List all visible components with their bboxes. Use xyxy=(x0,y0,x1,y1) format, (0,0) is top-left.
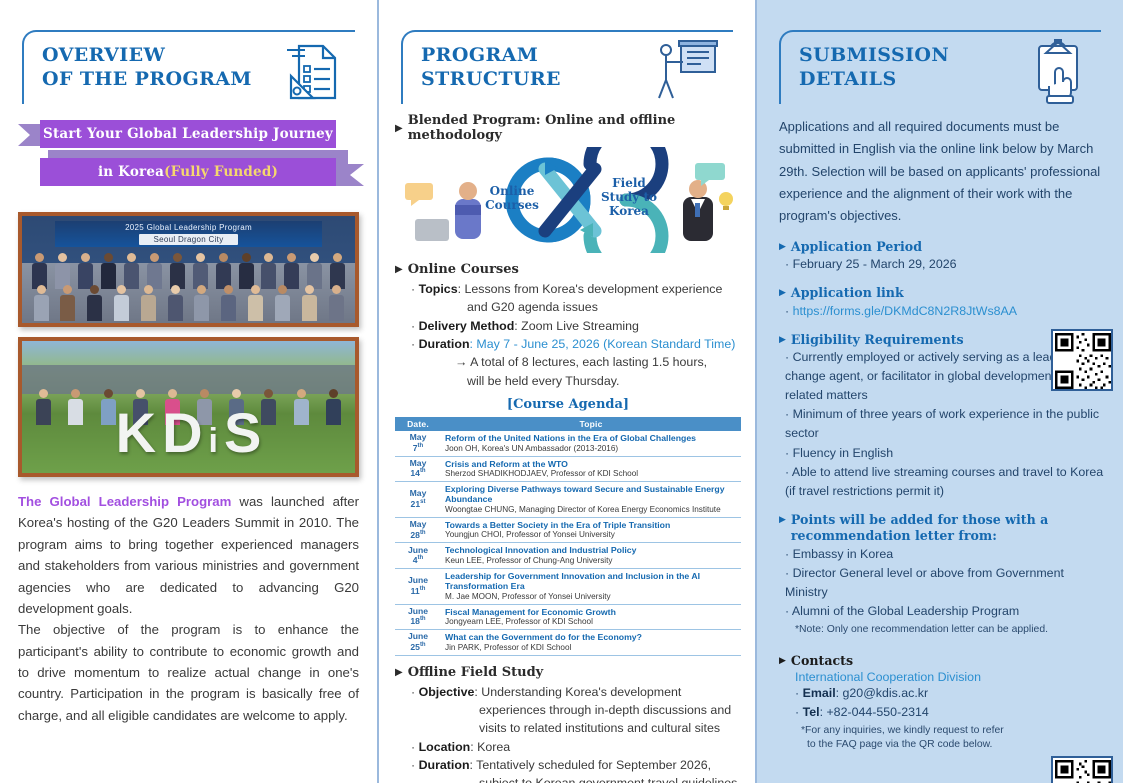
recommendation-item: · Director General level or above from G… xyxy=(785,564,1107,602)
triangle-bullet-icon: ▶ xyxy=(779,515,786,527)
triangle-bullet-icon: ▶ xyxy=(395,264,403,275)
cell-date: June25th xyxy=(395,630,441,655)
group-photo-indoor: 2025 Global Leadership Program Seoul Dra… xyxy=(18,212,359,327)
cell-topic: Leadership for Government Innovation and… xyxy=(441,568,741,604)
offline-duration-line: · Duration: Tentatively scheduled for Se… xyxy=(411,756,741,783)
column-header-topic: Topic xyxy=(441,417,741,431)
contacts-note-2: to the FAQ page via the QR code below. xyxy=(807,738,1107,752)
hand-clipboard-icon xyxy=(1029,36,1087,111)
contact-email-line[interactable]: · Email: g20@kdis.ac.kr xyxy=(795,684,1107,703)
location-label: Location xyxy=(419,740,471,754)
duration-note-2: will be held every Thursday. xyxy=(467,372,741,390)
duration-label: Duration xyxy=(419,337,470,351)
objective-line: · Objective: Understanding Korea's devel… xyxy=(411,683,741,738)
cell-topic: Exploring Diverse Pathways toward Secure… xyxy=(441,482,741,518)
recommendation-item: · Alumni of the Global Leadership Progra… xyxy=(785,602,1107,621)
program-structure-header: PROGRAM STRUCTURE xyxy=(379,0,755,104)
triangle-bullet-icon: ▶ xyxy=(779,656,786,668)
contacts-heading: ▶ Contacts xyxy=(779,653,1107,669)
topic-speaker: Sherzod SHADIKHODJAEV, Professor of KDI … xyxy=(445,469,737,479)
tel-label: Tel xyxy=(803,705,820,719)
column-submission-details: SUBMISSION DETAILS Applications and all … xyxy=(757,0,1123,783)
objective-value-3: visits to related institutions and cultu… xyxy=(479,719,741,737)
course-agenda-title: [Course Agenda] xyxy=(395,397,741,412)
offline-field-study-heading: ▶ Offline Field Study xyxy=(395,665,741,680)
application-link-row[interactable]: · https://forms.gle/DKMdC8N2R8JtWs8AA xyxy=(785,302,1107,321)
topic-title: Technological Innovation and Industrial … xyxy=(445,545,737,555)
online-topics-value: : Lessons from Korea's development exper… xyxy=(458,282,723,296)
topic-speaker: Woongtae CHUNG, Managing Director of Kor… xyxy=(445,505,737,515)
application-link-heading: ▶ Application link xyxy=(779,285,1107,301)
cell-date: June18th xyxy=(395,604,441,629)
duration-line: · Duration: May 7 - June 25, 2026 (Korea… xyxy=(411,335,741,390)
topic-title: Exploring Diverse Pathways toward Secure… xyxy=(445,484,737,505)
table-header-row: Date. Topic xyxy=(395,417,741,431)
delivery-method-line: · Delivery Method: Zoom Live Streaming xyxy=(411,317,741,335)
triangle-bullet-icon: ▶ xyxy=(779,288,786,300)
topic-speaker: Keun LEE, Professor of Chung-Ang Univers… xyxy=(445,556,737,566)
objective-label: Objective xyxy=(419,685,475,699)
cell-date: May14th xyxy=(395,456,441,481)
qr-code-image xyxy=(1055,760,1111,783)
delivery-method-value: : Zoom Live Streaming xyxy=(514,319,639,333)
brochure-page: OVERVIEW OF THE PROGRAM xyxy=(0,0,1125,783)
diagram-label-field-study: Field Study to Korea xyxy=(591,177,667,218)
blended-program-heading: ▶ Blended Program: Online and offline me… xyxy=(395,113,741,143)
table-row: May14thCrisis and Reform at the WTOSherz… xyxy=(395,456,741,481)
table-row: June4thTechnological Innovation and Indu… xyxy=(395,543,741,568)
column-overview: OVERVIEW OF THE PROGRAM xyxy=(0,0,377,783)
document-list-icon xyxy=(283,36,341,111)
photo-people-back-row xyxy=(29,253,349,289)
online-courses-heading: ▶ Online Courses xyxy=(395,262,741,277)
online-topics-line: · Topics: Lessons from Korea's developme… xyxy=(411,280,741,317)
application-period-heading: ▶ Application Period xyxy=(779,239,1107,255)
table-row: May21stExploring Diverse Pathways toward… xyxy=(395,482,741,518)
contact-tel-line: · Tel: +82-044-550-2314 xyxy=(795,703,1107,722)
application-link-url[interactable]: https://forms.gle/DKMdC8N2R8JtWs8AA xyxy=(793,304,1017,318)
online-topics-value-2: and G20 agenda issues xyxy=(467,298,741,316)
column-program-structure: PROGRAM STRUCTURE xyxy=(377,0,757,783)
overview-lead-text: The Global Leadership Program xyxy=(18,494,231,509)
triangle-bullet-icon: ▶ xyxy=(395,667,403,678)
table-row: June11thLeadership for Government Innova… xyxy=(395,568,741,604)
email-label: Email xyxy=(803,686,836,700)
email-value[interactable]: : g20@kdis.ac.kr xyxy=(836,686,928,700)
group-photo-kdis-letters: KDiS xyxy=(18,337,359,477)
topic-title: Leadership for Government Innovation and… xyxy=(445,571,737,592)
cell-date: May28th xyxy=(395,517,441,542)
contacts-note-1: *For any inquiries, we kindly request to… xyxy=(801,724,1107,738)
topic-title: Crisis and Reform at the WTO xyxy=(445,459,737,469)
cell-date: June4th xyxy=(395,543,441,568)
duration-note-1: → A total of 8 lectures, each lasting 1.… xyxy=(455,353,741,371)
table-row: May28thTowards a Better Society in the E… xyxy=(395,517,741,542)
cell-topic: Crisis and Reform at the WTOSherzod SHAD… xyxy=(441,456,741,481)
cell-date: May7th xyxy=(395,431,441,456)
triangle-bullet-icon: ▶ xyxy=(779,335,786,347)
topic-title: Towards a Better Society in the Era of T… xyxy=(445,520,737,530)
course-agenda-table: Date. Topic May7thReform of the United N… xyxy=(395,417,741,655)
topic-speaker: Youngjun CHOI, Professor of Yonsei Unive… xyxy=(445,530,737,540)
table-row: May7thReform of the United Nations in th… xyxy=(395,431,741,456)
diagram-label-online-courses: Online Courses xyxy=(475,185,549,213)
offline-duration-value: : Tentatively scheduled for September 20… xyxy=(470,758,712,772)
photo-banner: 2025 Global Leadership Program Seoul Dra… xyxy=(55,221,321,247)
cell-topic: Towards a Better Society in the Era of T… xyxy=(441,517,741,542)
ribbon-line-1: Start Your Global Leadership Journey xyxy=(40,120,336,148)
contacts-division: International Cooperation Division xyxy=(795,670,1107,684)
cell-topic: Fiscal Management for Economic GrowthJon… xyxy=(441,604,741,629)
topic-speaker: M. Jae MOON, Professor of Yonsei Univers… xyxy=(445,592,737,602)
topic-speaker: Jin PARK, Professor of KDI School xyxy=(445,643,737,653)
topic-speaker: Joon OH, Korea's UN Ambassador (2013-201… xyxy=(445,444,737,454)
recommendation-item: · Embassy in Korea xyxy=(785,545,1107,564)
overview-paragraph-2: The objective of the program is to enhan… xyxy=(18,619,359,726)
location-value: : Korea xyxy=(470,740,510,754)
triangle-bullet-icon: ▶ xyxy=(779,242,786,254)
photo-banner-title: 2025 Global Leadership Program xyxy=(125,223,252,232)
offline-duration-label: Duration xyxy=(419,758,470,772)
faq-qr-code[interactable] xyxy=(1051,756,1113,783)
cell-date: June11th xyxy=(395,568,441,604)
eligibility-item: · Fluency in English xyxy=(785,444,1107,463)
application-qr-code[interactable] xyxy=(1051,329,1113,391)
recommendation-note: *Note: Only one recommendation letter ca… xyxy=(795,623,1107,637)
ribbon-line-2-main: in Korea xyxy=(98,164,164,180)
column-header-date: Date. xyxy=(395,417,441,431)
delivery-method-label: Delivery Method xyxy=(419,319,515,333)
tel-value: : +82-044-550-2314 xyxy=(820,705,929,719)
topic-title: Fiscal Management for Economic Growth xyxy=(445,607,737,617)
submission-details-header: SUBMISSION DETAILS xyxy=(757,0,1123,104)
offline-duration-value-2: subject to Korean government travel guid… xyxy=(479,774,741,783)
application-period-value: · February 25 - March 29, 2026 xyxy=(785,255,1107,274)
table-row: June18thFiscal Management for Economic G… xyxy=(395,604,741,629)
cell-topic: What can the Government do for the Econo… xyxy=(441,630,741,655)
ribbon-banners: Start Your Global Leadership Journey in … xyxy=(18,118,359,202)
topic-speaker: Jongyearn LEE, Professor of KDI School xyxy=(445,617,737,627)
ribbon-line-2: in Korea (Fully Funded) xyxy=(40,158,336,186)
cell-topic: Reform of the United Nations in the Era … xyxy=(441,431,741,456)
objective-value: : Understanding Korea's development xyxy=(474,685,681,699)
eligibility-item: · Minimum of three years of work experie… xyxy=(785,405,1107,443)
infinity-diagram: Online Courses Field Study to Korea xyxy=(395,147,741,253)
objective-value-2: experiences through in-depth discussions… xyxy=(479,701,741,719)
duration-value: : May 7 - June 25, 2026 (Korean Standard… xyxy=(470,337,736,351)
ribbon-line-2-gold: (Fully Funded) xyxy=(164,164,278,180)
online-topics-label: Topics xyxy=(419,282,458,296)
table-row: June25thWhat can the Government do for t… xyxy=(395,630,741,655)
location-line: · Location: Korea xyxy=(411,738,741,756)
photo-banner-sub: Seoul Dragon City xyxy=(139,234,237,245)
topic-title: Reform of the United Nations in the Era … xyxy=(445,433,737,443)
kdis-letters: KDiS xyxy=(22,411,355,455)
overview-header: OVERVIEW OF THE PROGRAM xyxy=(0,0,377,104)
overview-paragraph-1: The Global Leadership Program was launch… xyxy=(18,491,359,619)
eligibility-item: · Able to attend live streaming courses … xyxy=(785,463,1107,501)
cell-date: May21st xyxy=(395,482,441,518)
presenter-board-icon xyxy=(653,36,719,111)
topic-title: What can the Government do for the Econo… xyxy=(445,632,737,642)
recommendation-points-heading: ▶ Points will be added for those with a … xyxy=(779,512,1107,545)
infinity-loop-graphic xyxy=(395,147,743,253)
qr-code-image xyxy=(1055,333,1111,389)
cell-topic: Technological Innovation and Industrial … xyxy=(441,543,741,568)
triangle-bullet-icon: ▶ xyxy=(395,123,403,134)
photo-people-front-row xyxy=(29,285,349,321)
submission-intro-paragraph: Applications and all required documents … xyxy=(779,116,1107,228)
overview-paragraph-1-text: was launched after Korea's hosting of th… xyxy=(18,494,359,616)
